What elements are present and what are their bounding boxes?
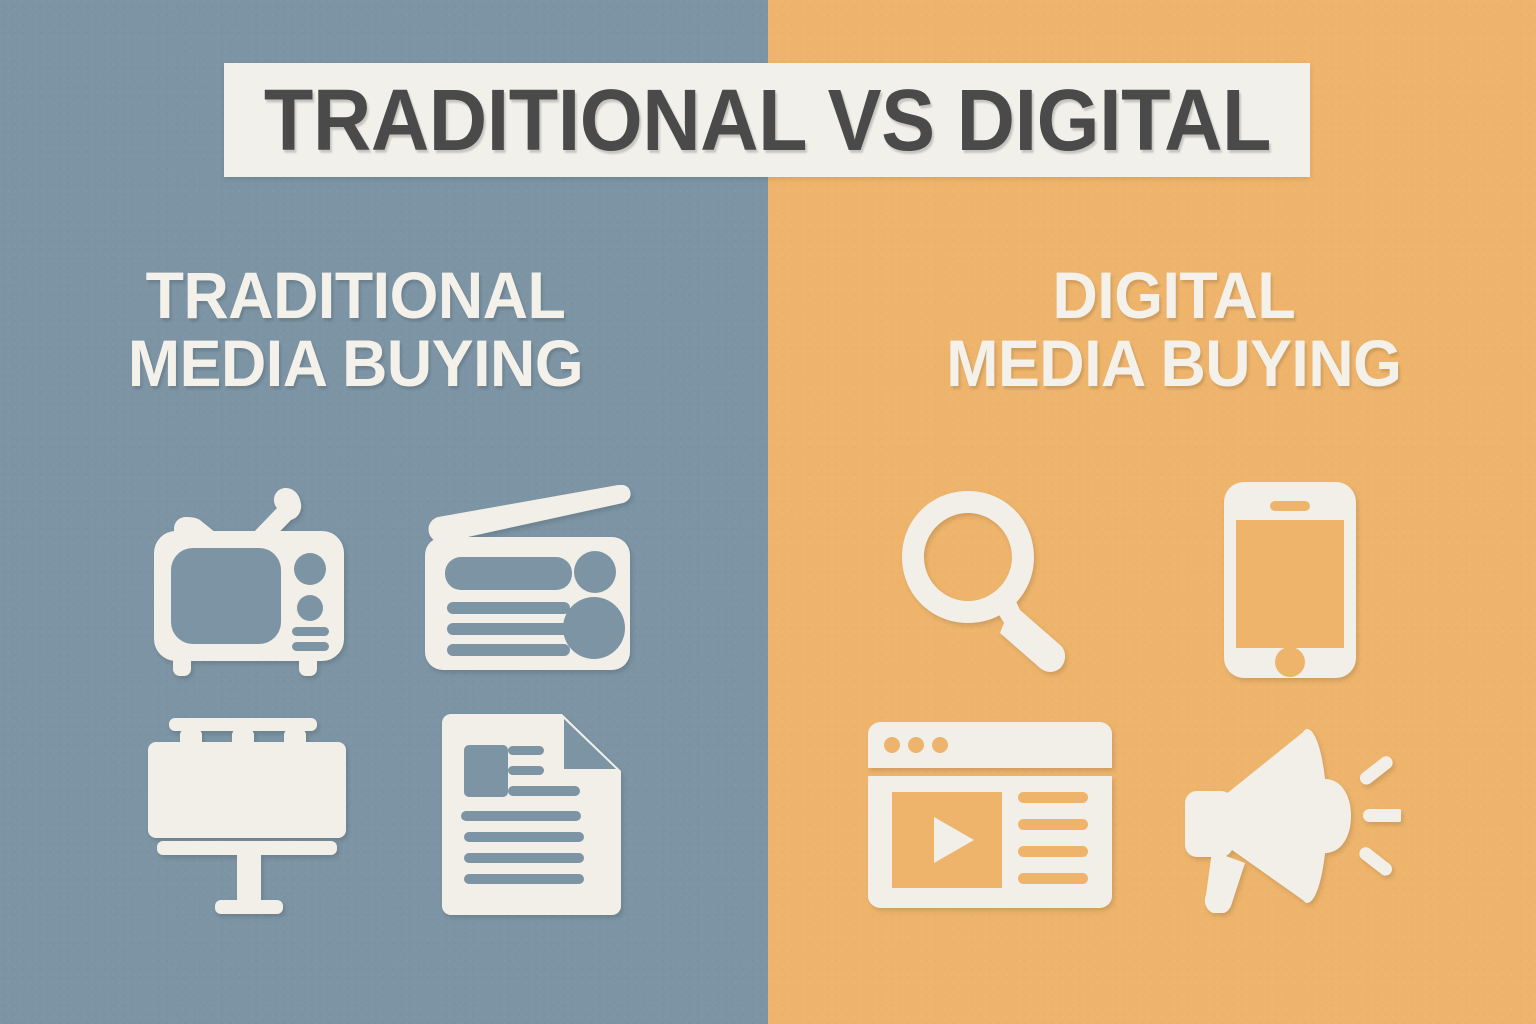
title-banner: TRADITIONAL VS DIGITAL bbox=[224, 63, 1310, 177]
page-title: TRADITIONAL VS DIGITAL bbox=[263, 77, 1270, 164]
billboard-icon bbox=[108, 697, 390, 932]
search-magnifier-icon bbox=[840, 462, 1140, 697]
panel-heading-digital: DIGITAL MEDIA BUYING bbox=[787, 262, 1517, 398]
panel-heading-digital-line1: DIGITAL bbox=[844, 262, 1503, 330]
television-icon bbox=[108, 462, 390, 697]
browser-video-icon bbox=[840, 697, 1140, 932]
newspaper-icon bbox=[390, 697, 672, 932]
panel-heading-digital-line2: MEDIA BUYING bbox=[844, 330, 1503, 398]
panel-heading-traditional-line2: MEDIA BUYING bbox=[44, 330, 667, 398]
panel-heading-traditional-line1: TRADITIONAL bbox=[44, 262, 667, 330]
icon-grid-traditional bbox=[0, 462, 768, 932]
megaphone-icon bbox=[1140, 697, 1440, 932]
smartphone-icon bbox=[1140, 462, 1440, 697]
panel-heading-traditional: TRADITIONAL MEDIA BUYING bbox=[19, 262, 749, 398]
radio-icon bbox=[390, 462, 672, 697]
icon-grid-digital bbox=[768, 462, 1536, 932]
